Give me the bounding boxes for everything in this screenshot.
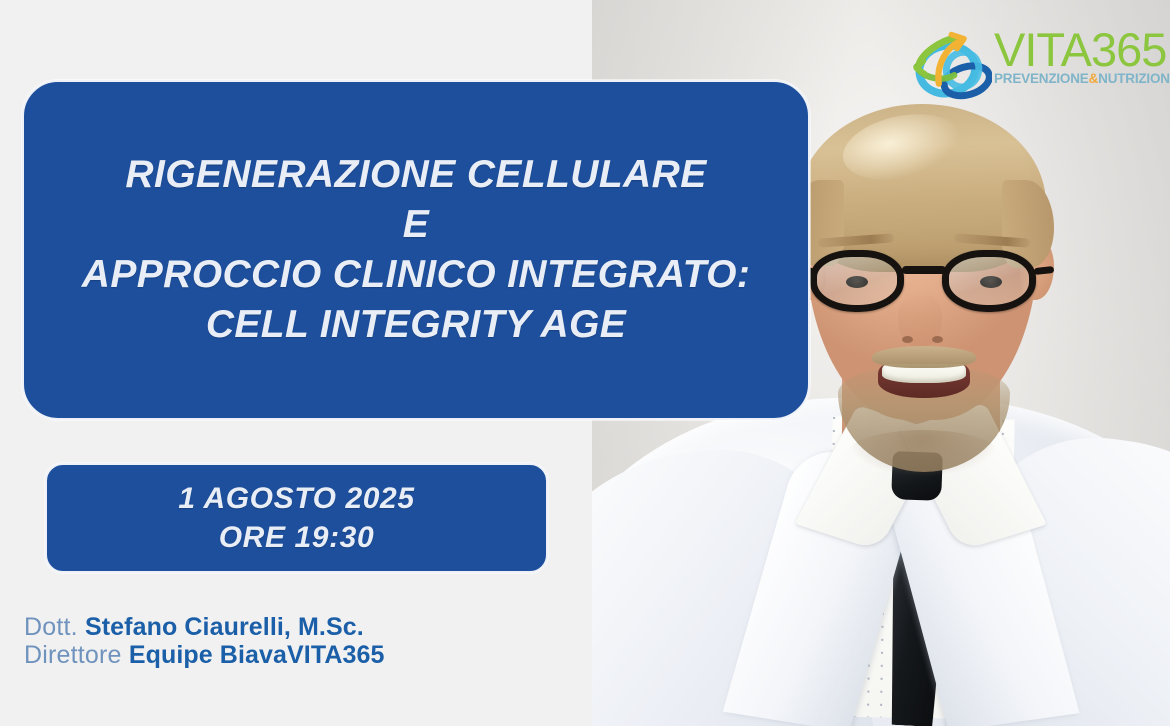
eyeglass-lens-right (942, 250, 1036, 312)
speaker-credit-line-1: Dott. Stefano Ciaurelli, M.Sc. (24, 614, 385, 641)
eyeglass-bridge (902, 266, 946, 274)
vita365-interlocking-rings-logo-icon (908, 24, 992, 104)
vita365-wordmark-group: VITA365 PREVENZIONE&NUTRIZIONE (994, 24, 1170, 86)
vita365-tagline: PREVENZIONE&NUTRIZIONE (994, 71, 1170, 86)
tagline-ampersand: & (1089, 71, 1099, 86)
speaker-name: Stefano Ciaurelli, M.Sc. (85, 613, 364, 641)
smiling-mouth (878, 364, 970, 398)
eyeglass-lens-left (810, 250, 904, 312)
event-title: RIGENERAZIONE CELLULARE E APPROCCIO CLIN… (68, 150, 764, 350)
vita365-wordmark: VITA365 (994, 28, 1170, 73)
speaker-organization: Equipe BiavaVITA365 (129, 641, 385, 669)
event-title-card: RIGENERAZIONE CELLULARE E APPROCCIO CLIN… (22, 80, 810, 420)
tagline-nutrizione: NUTRIZIONE (1098, 71, 1170, 86)
nostril-right (932, 336, 943, 343)
speaker-role-prefix: Direttore (24, 641, 129, 669)
chin-shadow (848, 430, 998, 476)
poster-canvas: RIGENERAZIONE CELLULARE E APPROCCIO CLIN… (0, 0, 1170, 726)
event-datetime-card: 1 AGOSTO 2025 ORE 19:30 (45, 463, 548, 573)
nostril-left (902, 336, 913, 343)
speaker-credit: Dott. Stefano Ciaurelli, M.Sc. Direttore… (24, 614, 385, 669)
event-datetime: 1 AGOSTO 2025 ORE 19:30 (178, 479, 414, 557)
speaker-credit-line-2: Direttore Equipe BiavaVITA365 (24, 642, 385, 669)
tagline-prevenzione: PREVENZIONE (994, 71, 1089, 86)
mustache (872, 346, 976, 368)
eyeglasses (810, 250, 1038, 316)
vita365-logo[interactable]: VITA365 PREVENZIONE&NUTRIZIONE (908, 24, 1164, 108)
speaker-title-prefix: Dott. (24, 613, 85, 641)
